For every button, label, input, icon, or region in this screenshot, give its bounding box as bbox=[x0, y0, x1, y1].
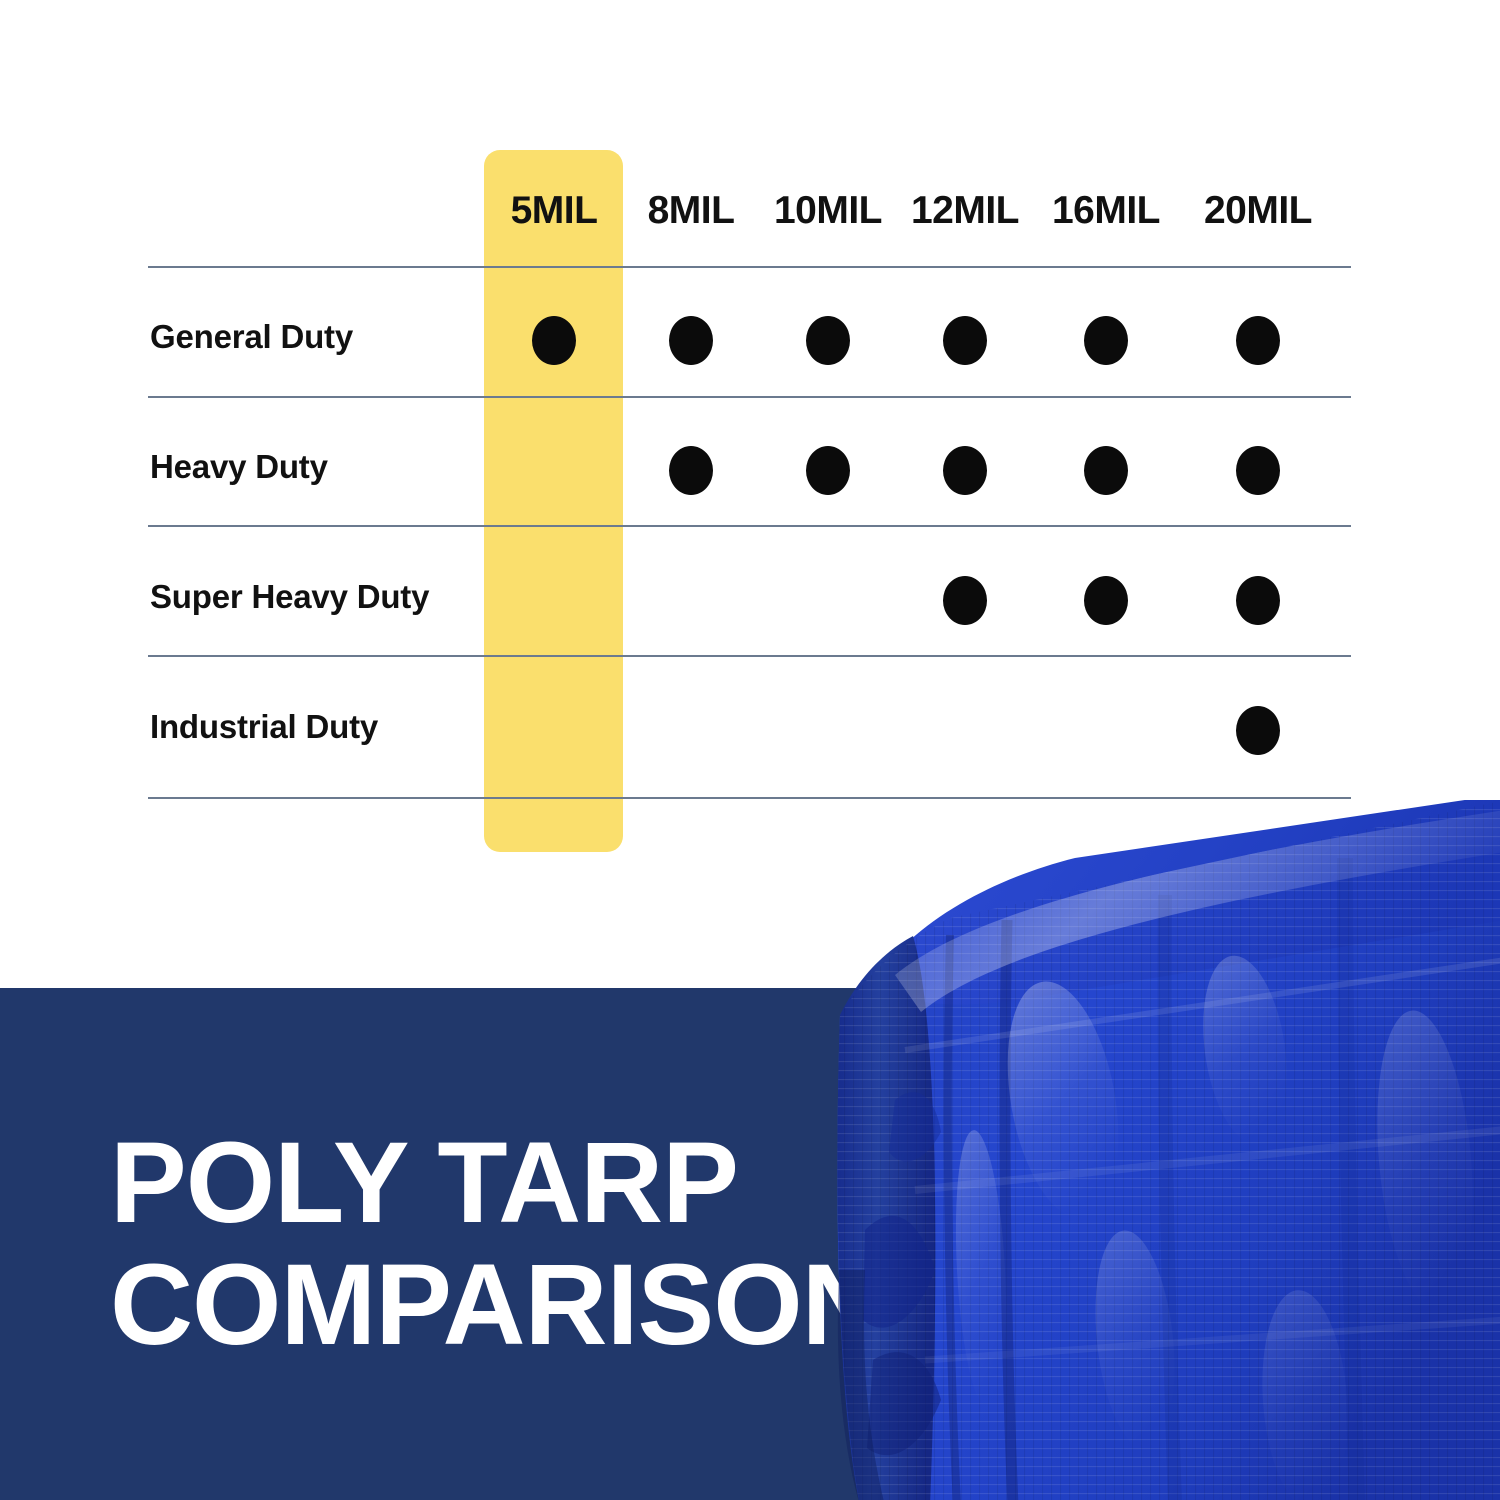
tarp-photo bbox=[745, 800, 1500, 1500]
availability-dot bbox=[806, 316, 850, 365]
row-divider bbox=[148, 797, 1351, 799]
row-label-general-duty: General Duty bbox=[150, 318, 353, 356]
availability-dot bbox=[1084, 316, 1128, 365]
availability-dot bbox=[806, 446, 850, 495]
availability-dot bbox=[1084, 576, 1128, 625]
availability-dot bbox=[943, 576, 987, 625]
row-divider bbox=[148, 525, 1351, 527]
availability-dot bbox=[1236, 706, 1280, 755]
availability-dot bbox=[669, 316, 713, 365]
row-divider bbox=[148, 266, 1351, 268]
poly-tarp-comparison-infographic: 5MIL 8MIL 10MIL 12MIL 16MIL 20MIL Genera… bbox=[0, 0, 1500, 1500]
availability-dot bbox=[1084, 446, 1128, 495]
availability-dot bbox=[943, 446, 987, 495]
row-label-industrial-duty: Industrial Duty bbox=[150, 708, 378, 746]
row-divider bbox=[148, 396, 1351, 398]
availability-dot bbox=[1236, 446, 1280, 495]
row-divider bbox=[148, 655, 1351, 657]
column-header-20mil: 20MIL bbox=[1168, 185, 1348, 237]
availability-dot bbox=[943, 316, 987, 365]
row-label-super-heavy-duty: Super Heavy Duty bbox=[150, 578, 429, 616]
highlight-column-5mil bbox=[484, 150, 623, 852]
table-header-row: 5MIL 8MIL 10MIL 12MIL 16MIL 20MIL bbox=[0, 185, 1500, 237]
availability-dot bbox=[1236, 316, 1280, 365]
row-label-heavy-duty: Heavy Duty bbox=[150, 448, 328, 486]
availability-dot bbox=[532, 316, 576, 365]
availability-dot bbox=[669, 446, 713, 495]
availability-dot bbox=[1236, 576, 1280, 625]
